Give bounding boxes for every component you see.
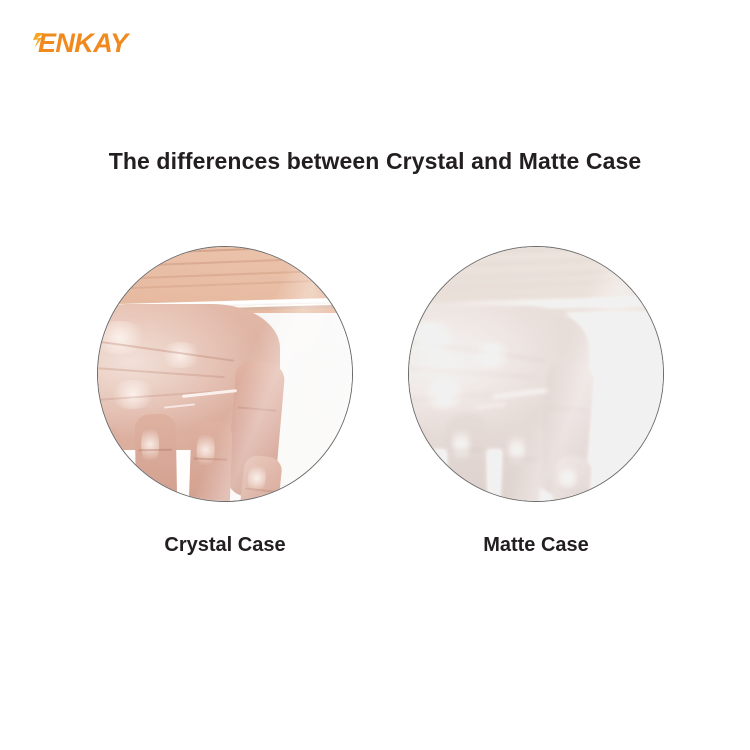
crystal-case-scene bbox=[97, 246, 353, 502]
knuckle-shading bbox=[313, 246, 353, 305]
palm-line bbox=[408, 366, 537, 378]
fingers-group bbox=[97, 405, 311, 502]
product-infographic: ENKAY The differences between Crystal an… bbox=[0, 0, 750, 750]
skin-crease bbox=[408, 257, 661, 270]
finger-highlight bbox=[196, 429, 216, 469]
brand-logo: ENKAY bbox=[33, 28, 128, 58]
hand-behind-crystal-case-photo bbox=[97, 246, 353, 502]
finger-highlight bbox=[408, 436, 418, 475]
finger-shape bbox=[135, 414, 178, 502]
finger-shape bbox=[497, 420, 543, 502]
matte-case-scene bbox=[408, 246, 664, 502]
brand-name: ENKAY bbox=[38, 30, 128, 57]
caption-matte-case: Matte Case bbox=[408, 532, 664, 558]
finger-highlight bbox=[452, 424, 471, 466]
finger-highlight bbox=[97, 436, 107, 475]
finger-joint bbox=[193, 457, 227, 460]
page-title: The differences between Crystal and Matt… bbox=[0, 146, 750, 176]
comparison-item-crystal: Crystal Case bbox=[97, 246, 353, 502]
finger-shape bbox=[233, 454, 283, 502]
skin-crease bbox=[97, 280, 313, 292]
finger-shape bbox=[408, 426, 439, 502]
finger-highlight bbox=[141, 424, 160, 466]
enkay-bolt-mark-icon bbox=[33, 32, 45, 54]
fingers-group bbox=[408, 405, 622, 502]
skin-crease bbox=[408, 280, 624, 292]
finger-shape bbox=[446, 414, 489, 502]
comparison-item-matte: Matte Case bbox=[408, 246, 664, 502]
caption-crystal-case: Crystal Case bbox=[97, 532, 353, 558]
finger-joint bbox=[504, 457, 538, 460]
finger-shape bbox=[97, 426, 128, 502]
comparison-section: Crystal Case bbox=[0, 246, 750, 576]
skin-crease bbox=[97, 257, 350, 270]
hand-behind-matte-case-photo bbox=[408, 246, 664, 502]
knuckle-shading bbox=[624, 246, 664, 305]
finger-shape bbox=[544, 454, 594, 502]
finger-shape bbox=[186, 420, 232, 502]
finger-highlight bbox=[507, 429, 527, 469]
palm-line bbox=[97, 366, 226, 378]
